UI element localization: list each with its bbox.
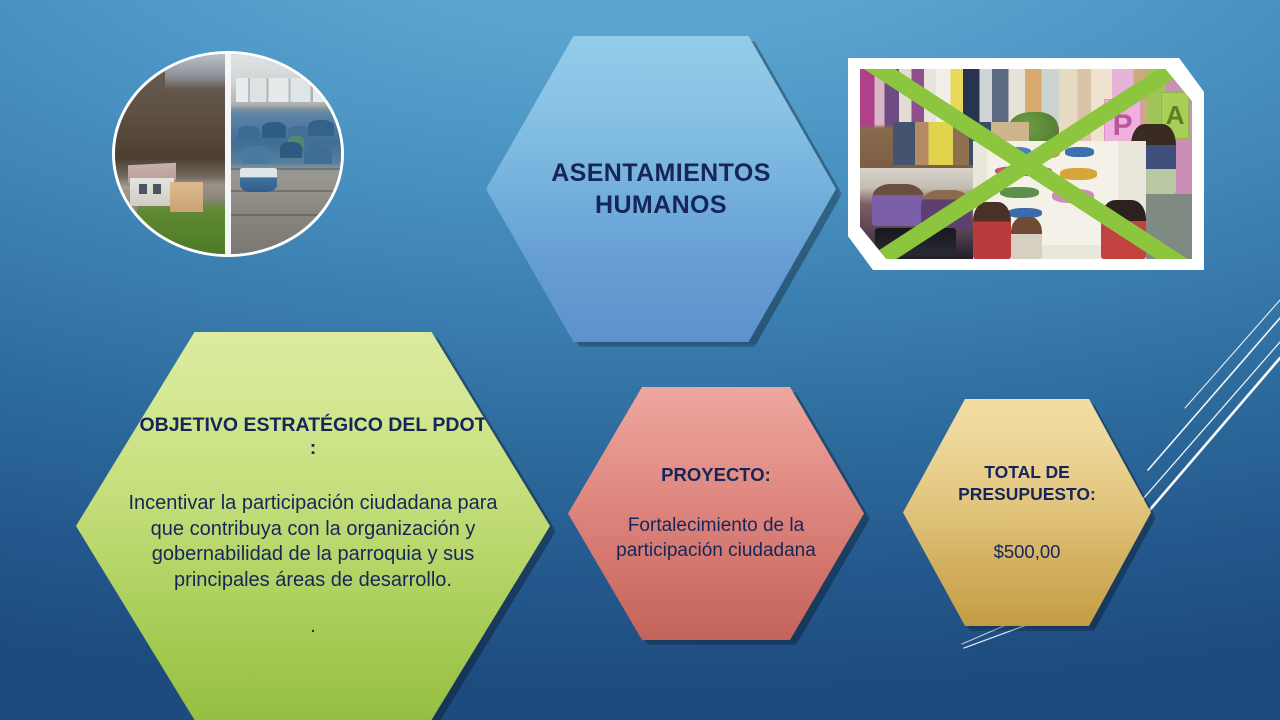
village-house-2: [170, 182, 203, 212]
dock-line: [231, 214, 341, 216]
circle-photo-divider: [225, 54, 232, 254]
project-heading: PROYECTO:: [661, 464, 771, 486]
boat: [308, 120, 334, 136]
collage-quadrant-poster-activity: [973, 141, 1146, 259]
village-illustration: [115, 54, 225, 254]
poster-doodle: [1065, 147, 1094, 156]
goal-heading: OBJETIVO ESTRATÉGICO DEL PDOT :: [76, 414, 550, 462]
circle-photo-left-half: [115, 54, 225, 254]
project-body: Fortalecimiento de la participación ciud…: [568, 514, 864, 563]
budget-heading: TOTAL DE PRESUPUESTO:: [903, 462, 1151, 505]
hill-sky: [165, 54, 224, 90]
workshop-person-a: [872, 184, 925, 226]
page-title: ASENTAMIENTOS HUMANOS: [486, 157, 836, 222]
community-photo-collage: P A: [860, 69, 1192, 259]
poster-doodle: [1000, 187, 1039, 198]
harbour-illustration: [231, 54, 341, 254]
budget-amount: $500,00: [994, 541, 1061, 563]
harbour-town-roofs: [236, 78, 337, 102]
child-middle: [1011, 217, 1042, 259]
boat: [262, 122, 286, 138]
goal-body: Incentivar la participación ciudadana pa…: [76, 491, 550, 593]
boat: [280, 142, 302, 158]
poster-doodle: [1060, 168, 1097, 179]
goal-trailing-mark: .: [310, 615, 316, 638]
boat: [238, 126, 260, 140]
slide-canvas: P A: [0, 0, 1280, 720]
village-window-2: [153, 184, 161, 194]
boat-foreground: [240, 168, 277, 192]
community-photo-collage-frame: P A: [848, 58, 1204, 270]
split-circle-photo: [112, 51, 344, 257]
strategic-goal-hexagon[interactable]: OBJETIVO ESTRATÉGICO DEL PDOT : Incentiv…: [76, 332, 550, 720]
boat: [242, 146, 270, 164]
boat: [304, 146, 332, 164]
circle-photo-right-half: [231, 54, 341, 254]
village-window-1: [139, 184, 147, 194]
child-left: [973, 202, 1011, 259]
village-house-1: [130, 178, 174, 206]
